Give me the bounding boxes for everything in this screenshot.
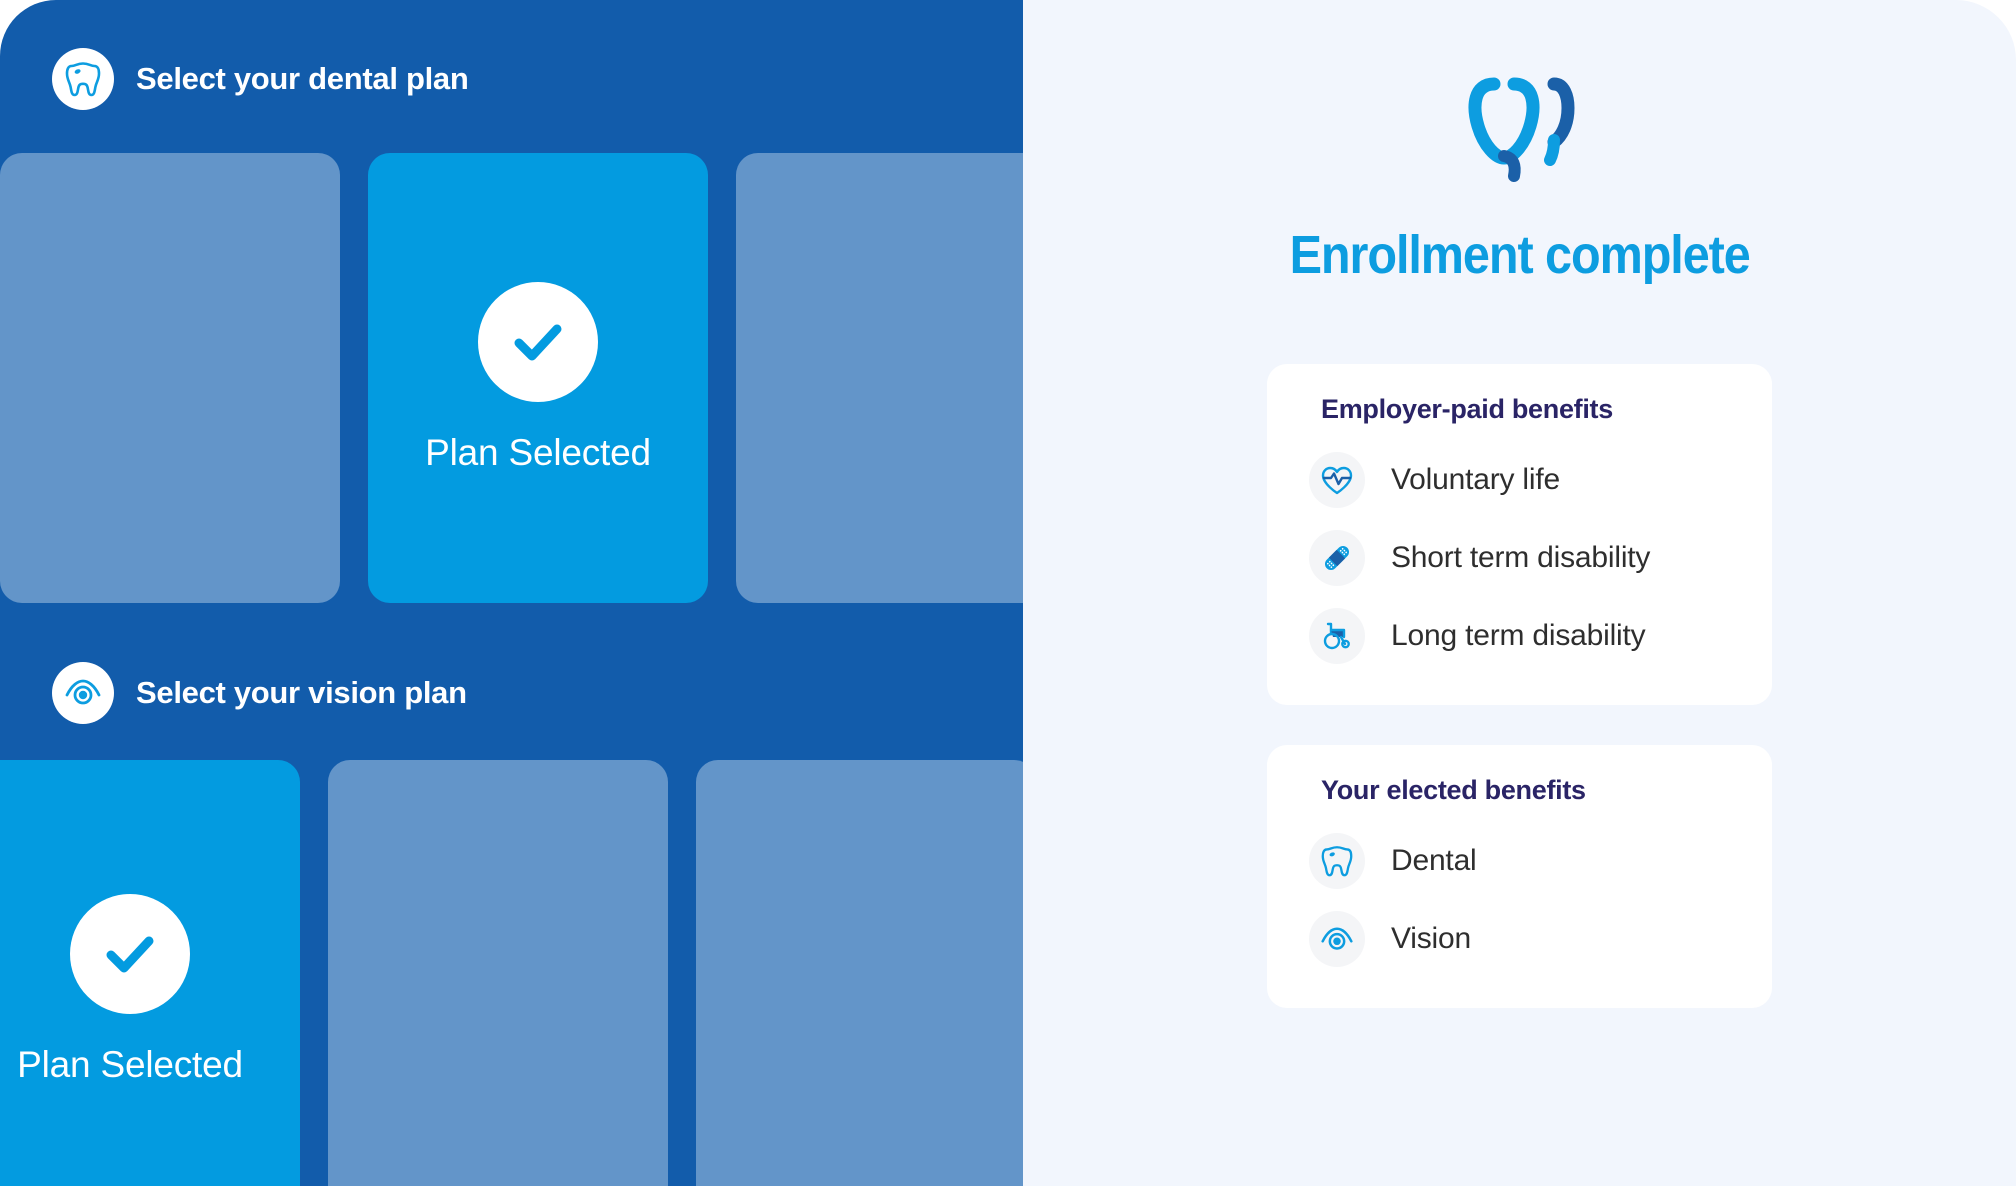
- benefit-card-title: Employer-paid benefits: [1267, 394, 1772, 425]
- benefit-label: Long term disability: [1391, 619, 1645, 653]
- benefit-label: Vision: [1391, 922, 1471, 956]
- employer-paid-benefits-card: Employer-paid benefits Voluntary life: [1267, 364, 1772, 705]
- enrollment-screen: Select your dental plan Plan Selected: [0, 0, 2016, 1186]
- elected-benefits-card: Your elected benefits Dental: [1267, 745, 1772, 1008]
- eye-icon: [52, 662, 114, 724]
- vision-plan-card-row: Plan Selected: [0, 760, 1023, 1186]
- plan-selection-panel: Select your dental plan Plan Selected: [0, 0, 1023, 1186]
- checkmark-icon: [478, 282, 598, 402]
- checkmark-icon: [70, 894, 190, 1014]
- section-header-label: Select your dental plan: [136, 61, 468, 97]
- benefit-label: Voluntary life: [1391, 463, 1560, 497]
- plan-card-label: Plan Selected: [17, 1044, 243, 1086]
- enrollment-summary-panel: Enrollment complete Employer-paid benefi…: [1023, 0, 2016, 1186]
- tooth-icon: [1309, 833, 1365, 889]
- section-header-dental: Select your dental plan: [0, 46, 468, 112]
- benefit-label: Short term disability: [1391, 541, 1650, 575]
- section-header-vision: Select your vision plan: [0, 660, 467, 726]
- tooth-icon: [52, 48, 114, 110]
- dental-plan-card-3[interactable]: [736, 153, 1023, 603]
- vision-plan-card-1-selected[interactable]: Plan Selected: [0, 760, 300, 1186]
- employer-paid-benefits-list: Voluntary life: [1267, 441, 1772, 675]
- benefit-item-vision: Vision: [1267, 900, 1772, 978]
- benefit-label: Dental: [1391, 844, 1477, 878]
- page-title: Enrollment complete: [1289, 224, 1749, 286]
- benefit-item-dental: Dental: [1267, 822, 1772, 900]
- section-header-label: Select your vision plan: [136, 675, 467, 711]
- vision-plan-card-3[interactable]: [696, 760, 1023, 1186]
- vision-plan-card-2[interactable]: [328, 760, 668, 1186]
- elected-benefits-list: Dental Vision: [1267, 822, 1772, 978]
- stethoscope-icon: [1458, 62, 1582, 186]
- bandage-icon: [1309, 530, 1365, 586]
- dental-plan-card-2-selected[interactable]: Plan Selected: [368, 153, 708, 603]
- dental-plan-card-1[interactable]: [0, 153, 340, 603]
- benefit-item-long-term-disability: Long term disability: [1267, 597, 1772, 675]
- plan-card-label: Plan Selected: [425, 432, 651, 474]
- eye-icon: [1309, 911, 1365, 967]
- benefit-item-short-term-disability: Short term disability: [1267, 519, 1772, 597]
- heartbeat-icon: [1309, 452, 1365, 508]
- wheelchair-icon: [1309, 608, 1365, 664]
- benefit-item-voluntary-life: Voluntary life: [1267, 441, 1772, 519]
- dental-plan-card-row: Plan Selected: [0, 153, 1023, 603]
- benefit-card-title: Your elected benefits: [1267, 775, 1772, 806]
